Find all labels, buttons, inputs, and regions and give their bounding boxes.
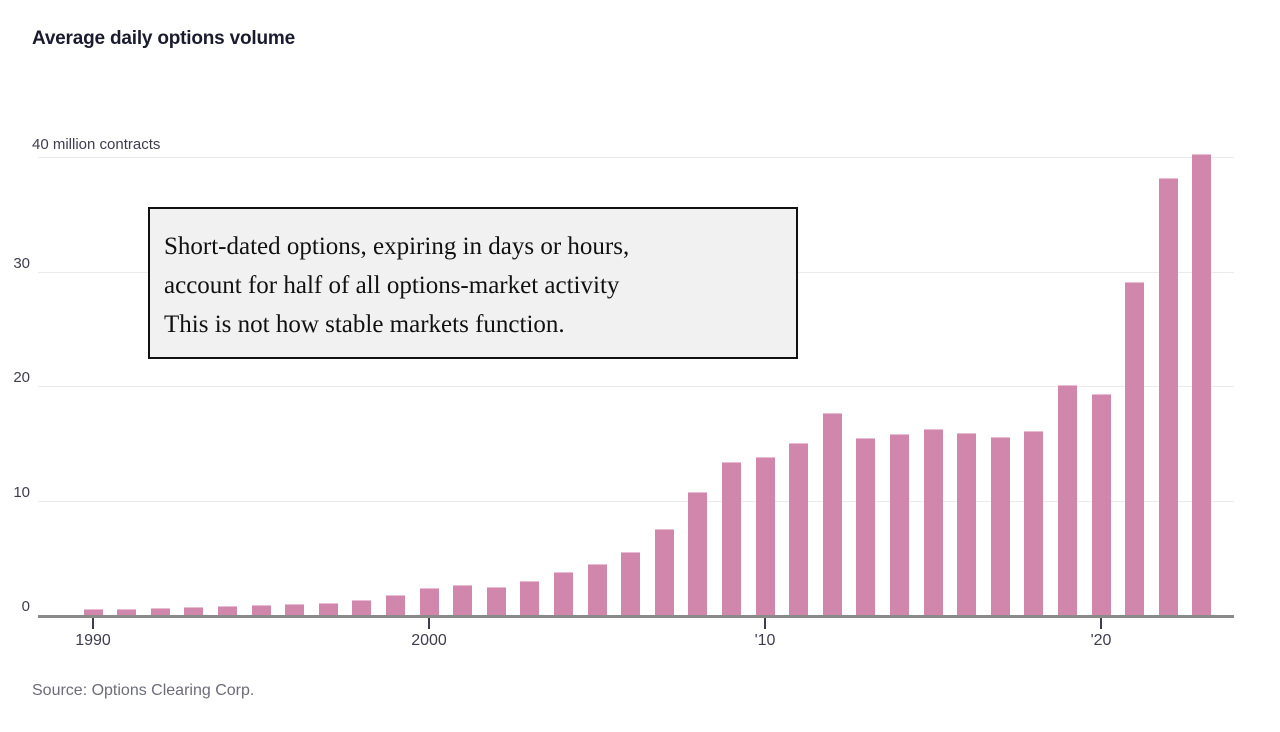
bar-2014 [890,434,909,615]
bar-2015 [924,429,943,615]
bar-1997 [319,603,338,615]
bar-2023 [1192,154,1211,615]
bar-1994 [218,606,237,615]
bar-1996 [285,604,304,615]
bar-2001 [453,585,472,615]
bar-1998 [352,600,371,615]
source-note: Source: Options Clearing Corp. [32,682,254,700]
annotation-line-3: This is not how stable markets function. [164,305,796,344]
bar-1995 [252,605,271,615]
bar-2004 [554,572,573,615]
y-axis-label-30: 30 [13,255,30,272]
bar-2018 [1024,431,1043,615]
bar-2006 [621,552,640,615]
bar-2019 [1058,385,1077,615]
bar-1999 [386,595,405,615]
bar-2000 [420,588,439,615]
bar-2016 [957,433,976,615]
bar-2012 [823,413,842,615]
x-tick-mark-2020 [1100,618,1102,629]
bar-2022 [1159,178,1178,615]
y-axis-label-10: 10 [13,484,30,501]
bar-1992 [151,608,170,615]
y-axis-label-0: 0 [22,598,30,615]
bar-2005 [588,564,607,615]
x-tick-mark-2010 [764,618,766,629]
x-axis-label-2000: 2000 [411,632,447,650]
bar-2017 [991,437,1010,615]
x-axis-label-2010: '10 [755,632,776,650]
x-axis-label-2020: '20 [1091,632,1112,650]
x-axis-line [38,615,1234,618]
bar-2009 [722,462,741,615]
bar-2011 [789,443,808,615]
bar-2021 [1125,282,1144,615]
x-tick-mark-1990 [92,618,94,629]
bar-2002 [487,587,506,615]
bar-1993 [184,607,203,615]
bar-2010 [756,457,775,615]
x-tick-mark-2000 [428,618,430,629]
annotation-line-1: Short-dated options, expiring in days or… [164,227,796,266]
bar-2020 [1092,394,1111,615]
annotation-callout: Short-dated options, expiring in days or… [148,207,798,359]
x-axis-label-1990: 1990 [75,632,111,650]
bar-2007 [655,529,674,615]
annotation-line-2: account for half of all options-market a… [164,266,796,305]
y-axis-label-20: 20 [13,369,30,386]
bar-2003 [520,581,539,615]
bar-2013 [856,438,875,615]
chart-title: Average daily options volume [32,28,295,50]
bar-2008 [688,492,707,615]
